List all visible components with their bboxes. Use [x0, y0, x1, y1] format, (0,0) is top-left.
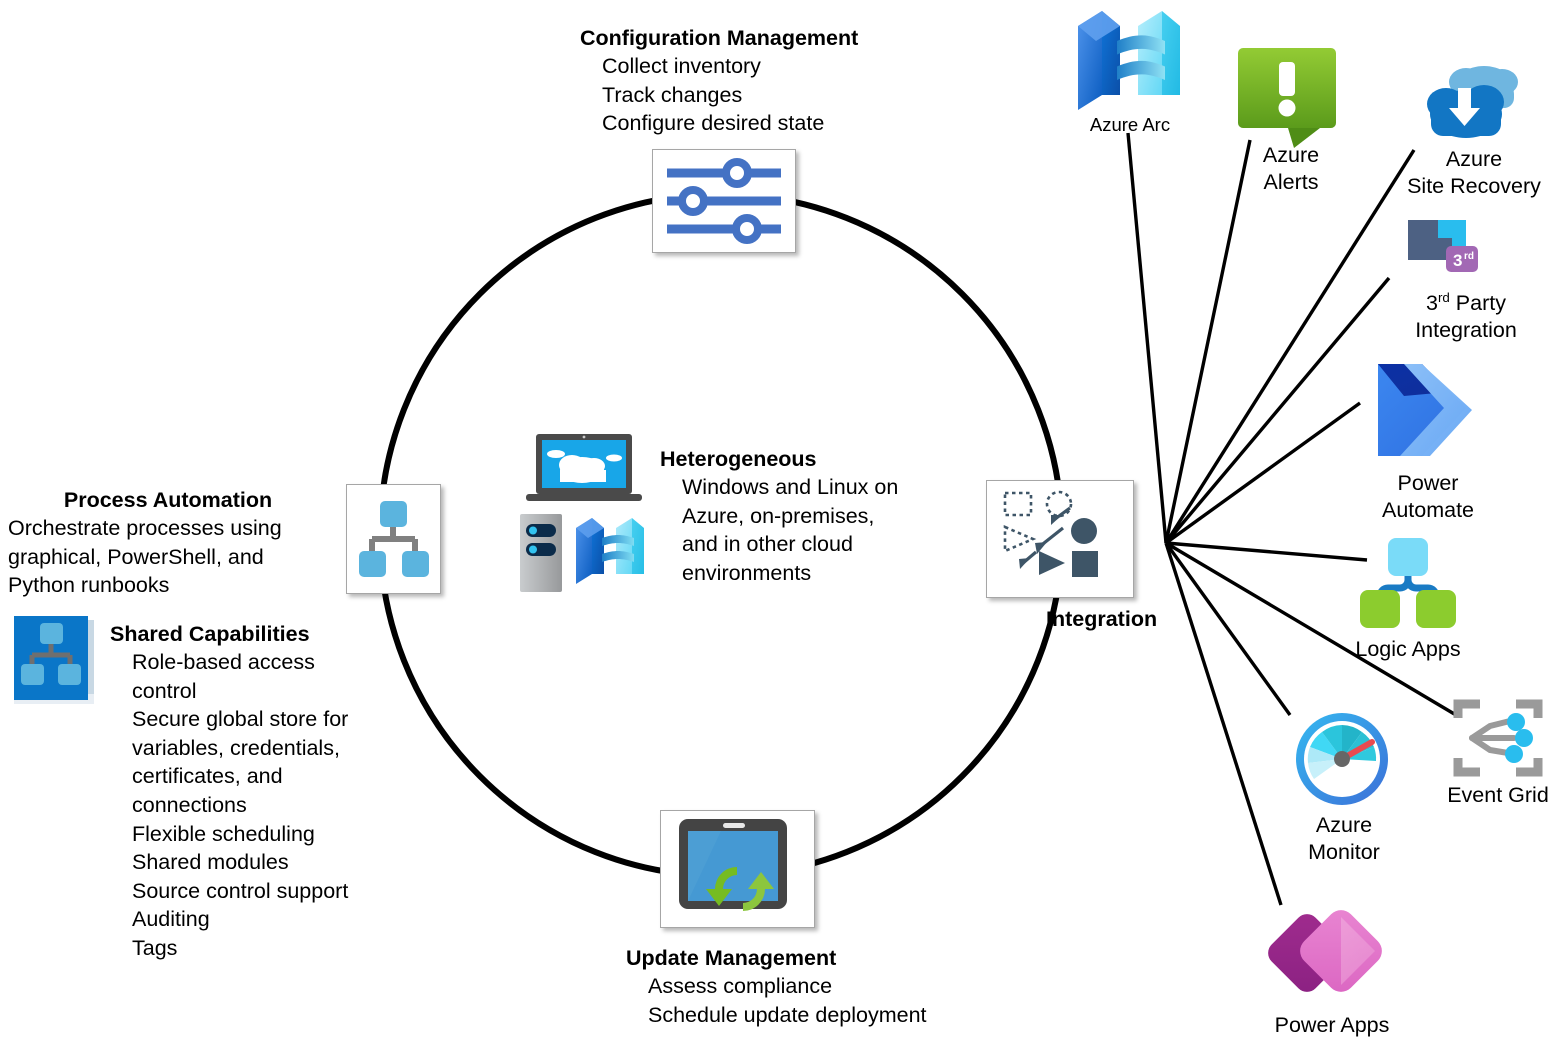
spoke-azure-alerts — [1166, 140, 1250, 543]
spoke-power-apps — [1166, 543, 1281, 905]
shared-capabilities-item: Flexible scheduling — [110, 820, 348, 849]
power-apps-label: Power Apps — [1248, 1012, 1416, 1038]
shared-capabilities-item: Role-based access — [110, 648, 348, 677]
shared-capabilities-item: Secure global store for — [110, 705, 348, 734]
shared-capabilities-item: control — [110, 677, 348, 706]
sliders-icon — [653, 150, 795, 252]
azure-arc-label: Azure Arc — [1060, 112, 1200, 138]
heterogeneous-text: Heterogeneous Windows and Linux on Azure… — [660, 445, 898, 587]
heterogeneous-line: environments — [660, 559, 898, 588]
alert-bubble-icon[interactable] — [1236, 46, 1342, 153]
azure-arc-icon — [572, 512, 648, 597]
tablet-refresh-icon — [661, 811, 814, 927]
update-management-item: Assess compliance — [626, 972, 927, 1001]
shared-capabilities-heading: Shared Capabilities — [110, 620, 348, 648]
logic-apps-icon[interactable] — [1354, 534, 1462, 637]
site-recovery-icon[interactable] — [1416, 52, 1526, 159]
process-automation-text: Process Automation Orchestrate processes… — [8, 486, 328, 600]
configuration-management-heading: Configuration Management — [580, 24, 858, 52]
power-automate-label: Power Automate — [1340, 470, 1516, 524]
runbook-book-icon — [8, 612, 100, 713]
laptop-cloud-icon — [524, 432, 644, 509]
process-automation-line: Orchestrate processes using — [8, 514, 328, 543]
heterogeneous-line: Azure, on-premises, — [660, 502, 898, 531]
process-automation-node[interactable] — [346, 484, 441, 594]
heterogeneous-line: Windows and Linux on — [660, 473, 898, 502]
azure-alerts-label: Azure Alerts — [1218, 142, 1364, 196]
power-automate-icon[interactable] — [1360, 358, 1494, 473]
third-party-icon[interactable]: 3 rd — [1404, 216, 1490, 293]
configuration-management-item: Track changes — [580, 81, 858, 110]
process-automation-line: graphical, PowerShell, and — [8, 543, 328, 572]
svg-text:rd: rd — [1464, 251, 1474, 262]
process-automation-heading: Process Automation — [8, 486, 328, 514]
shared-capabilities-text: Shared Capabilities Role-based access co… — [110, 620, 348, 963]
svg-text:3: 3 — [1453, 251, 1462, 270]
azure-arc-icon[interactable] — [1068, 2, 1190, 127]
shared-capabilities-item: Auditing — [110, 905, 348, 934]
event-grid-label: Event Grid — [1418, 782, 1563, 808]
diagram-canvas: Configuration Management Collect invento… — [0, 0, 1563, 1052]
third-party-label: 3rd Party Integration — [1370, 284, 1562, 344]
azure-site-recovery-label: Azure Site Recovery — [1386, 146, 1562, 200]
heterogeneous-line: and in other cloud — [660, 530, 898, 559]
hierarchy-icon — [347, 485, 440, 593]
event-grid-icon[interactable] — [1450, 692, 1546, 789]
integration-node[interactable] — [986, 480, 1134, 598]
azure-monitor-icon[interactable] — [1288, 706, 1396, 817]
update-management-heading: Update Management — [626, 944, 927, 972]
logic-apps-label: Logic Apps — [1330, 636, 1486, 662]
shared-capabilities-item: Shared modules — [110, 848, 348, 877]
configuration-management-item: Configure desired state — [580, 109, 858, 138]
spoke-logic-apps — [1166, 543, 1367, 560]
update-management-node[interactable] — [660, 810, 815, 928]
configuration-management-text: Configuration Management Collect invento… — [580, 24, 858, 138]
configuration-management-item: Collect inventory — [580, 52, 858, 81]
configuration-management-node[interactable] — [652, 149, 796, 253]
shapes-arrows-icon — [987, 481, 1133, 597]
shared-capabilities-item: Source control support — [110, 877, 348, 906]
power-apps-icon[interactable] — [1268, 900, 1392, 1015]
update-management-item: Schedule update deployment — [626, 1001, 927, 1030]
shared-capabilities-item: variables, credentials, — [110, 734, 348, 763]
process-automation-line: Python runbooks — [8, 571, 328, 600]
shared-capabilities-item: certificates, and — [110, 762, 348, 791]
spoke-power-automate — [1166, 403, 1360, 543]
azure-monitor-label: Azure Monitor — [1268, 812, 1420, 866]
update-management-text: Update Management Assess compliance Sche… — [626, 944, 927, 1029]
server-rack-icon — [516, 512, 568, 599]
integration-label: Integration — [1046, 606, 1206, 632]
heterogeneous-heading: Heterogeneous — [660, 445, 898, 473]
shared-capabilities-item: Tags — [110, 934, 348, 963]
shared-capabilities-item: connections — [110, 791, 348, 820]
